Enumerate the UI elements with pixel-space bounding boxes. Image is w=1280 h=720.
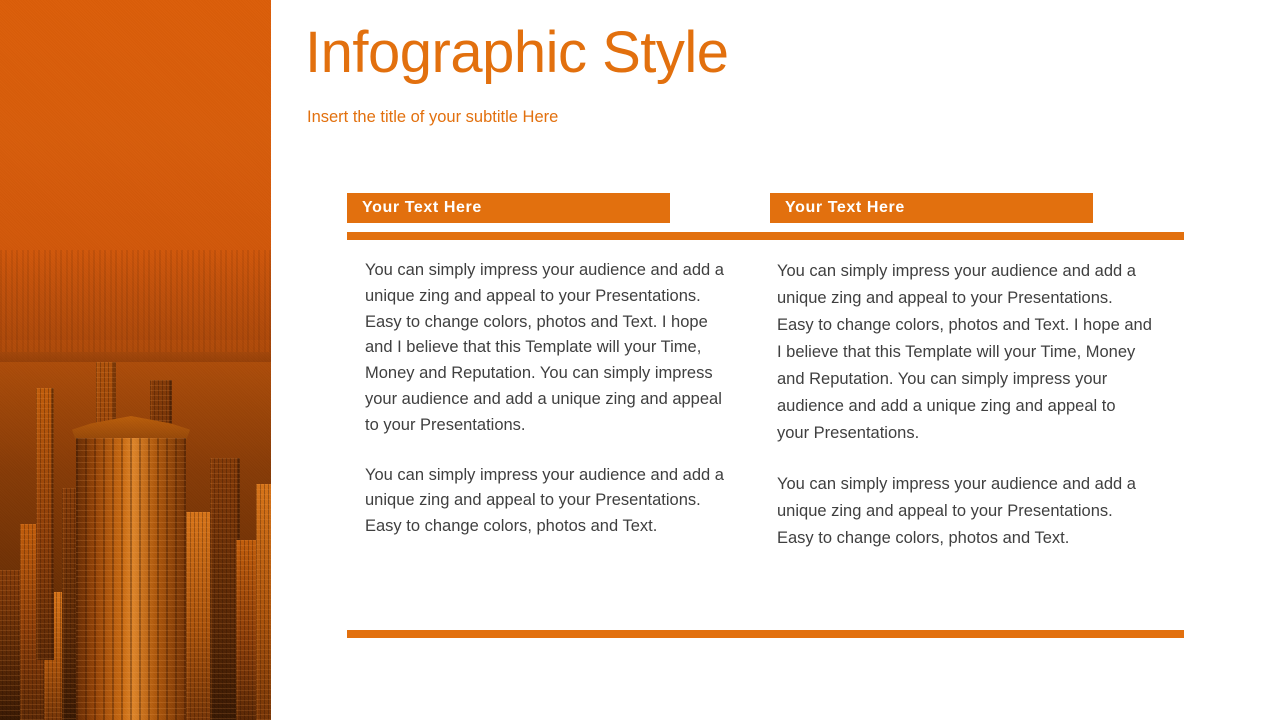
page-subtitle: Insert the title of your subtitle Here (307, 108, 558, 127)
column-2-header-label: Your Text Here (770, 199, 905, 217)
column-1-paragraph-1: You can simply impress your audience and… (365, 258, 730, 439)
column-1-header-bar[interactable]: Your Text Here (347, 193, 670, 223)
page-title: Infographic Style (305, 23, 729, 84)
column-1-header-label: Your Text Here (347, 199, 482, 217)
foreground-city (0, 362, 271, 720)
cityscape-image-panel (0, 0, 271, 720)
column-1-paragraph-2: You can simply impress your audience and… (365, 463, 730, 540)
slide-content: Infographic Style Insert the title of yo… (271, 0, 1280, 720)
top-divider-rule (347, 232, 1184, 240)
bottom-divider-rule (347, 630, 1184, 638)
column-2-header-bar[interactable]: Your Text Here (770, 193, 1093, 223)
column-2-paragraph-1: You can simply impress your audience and… (777, 258, 1152, 447)
column-2-paragraph-2: You can simply impress your audience and… (777, 471, 1152, 552)
main-skyscraper (76, 438, 186, 720)
column-1-body: You can simply impress your audience and… (365, 258, 730, 540)
column-2-body: You can simply impress your audience and… (777, 258, 1152, 552)
